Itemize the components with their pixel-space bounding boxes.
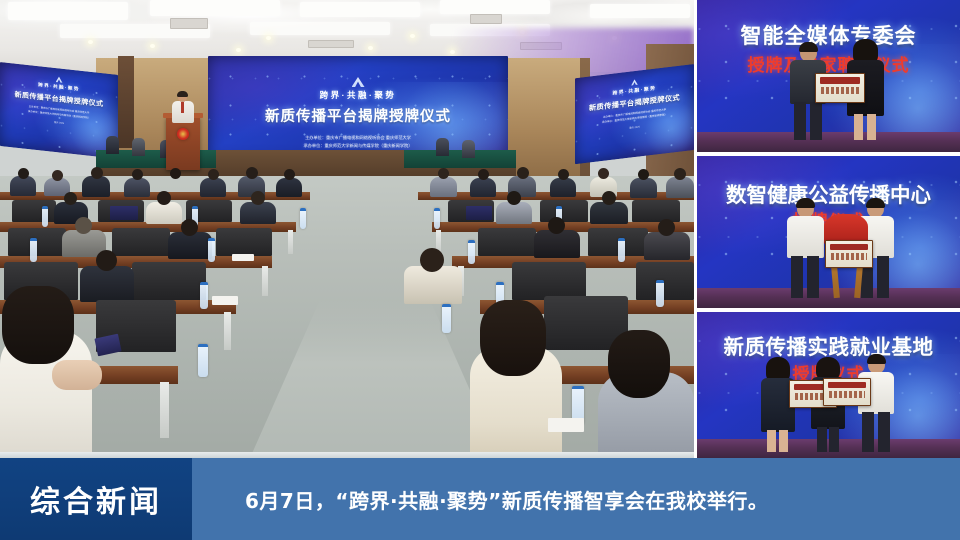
mountain-logo-icon (631, 79, 638, 86)
audience-head (548, 217, 565, 234)
water-bottle (618, 238, 625, 262)
audience-head (91, 167, 103, 179)
chair-back (216, 228, 272, 256)
person-legs (854, 114, 863, 140)
air-vent (470, 14, 502, 24)
audience-head (132, 169, 143, 180)
air-vent (308, 40, 354, 48)
audience-head (170, 168, 181, 179)
panel-title: 新质传播实践就业基地 (697, 330, 960, 360)
speaker-tie (181, 102, 184, 113)
panel-practice-employment-base: 新质传播实践就业基地 授牌仪式 (697, 312, 960, 458)
speaker-hair (177, 91, 188, 97)
right-photo-column: 智能全媒体专委会 授牌及专家聘任仪式 (697, 0, 960, 458)
screen-date: 重庆·2025 (54, 120, 64, 125)
audience-head (251, 191, 265, 205)
chair-back (12, 200, 56, 222)
stage-floor (697, 288, 960, 308)
audience-head (75, 217, 92, 234)
plaque-text (831, 253, 868, 260)
foreground-person-arm (52, 360, 102, 390)
paper-sheet (212, 296, 238, 305)
speaker-at-podium (172, 92, 194, 122)
panel-title: 智能全媒体专委会 (697, 20, 960, 50)
audience-head (96, 250, 117, 271)
stage-seated-person (132, 138, 145, 156)
water-bottle (434, 208, 440, 229)
podium (166, 116, 200, 170)
screen-tagline: 跨界·共融·聚势 (38, 82, 80, 93)
audience-head (517, 167, 529, 179)
stage-seated-person (106, 136, 119, 154)
stage-seated-person (436, 138, 449, 156)
audience-person (80, 266, 134, 302)
audience-person (534, 230, 580, 258)
desk-leg (288, 230, 293, 254)
chair-back (636, 262, 694, 300)
water-bottle (30, 238, 37, 262)
chair-back (478, 228, 536, 256)
audience-person (430, 177, 457, 197)
plaque-red-band (820, 77, 860, 83)
audience-head (284, 169, 295, 180)
audience-head (208, 169, 219, 180)
ceiling-light-panel (150, 0, 280, 16)
panel-title: 数智健康公益传播中心 (697, 178, 960, 208)
water-bottle (198, 344, 208, 377)
mountain-logo-icon (56, 76, 63, 83)
ceiling-light-panel (300, 2, 420, 17)
foreground-person-hair (608, 330, 670, 398)
audience-head (658, 219, 675, 236)
audience-head (246, 167, 258, 179)
news-headline: 6月7日，“跨界·共融·聚势”新质传播智享会在我校举行。 (245, 458, 768, 540)
audience-head (602, 191, 616, 205)
screen-date: 重庆·2025 (629, 124, 639, 129)
person-legs (867, 114, 876, 140)
audience-person (550, 178, 576, 197)
audience-person (168, 232, 212, 259)
audience-head (638, 169, 649, 180)
audience-head (420, 248, 444, 272)
audience-person (496, 202, 532, 224)
audience-head (674, 168, 686, 180)
person-legs (862, 412, 874, 452)
podium-emblem-icon (177, 128, 189, 140)
main-conference-photo: 跨界·共融·聚势 新质传播平台揭牌授牌仪式 主办单位：重庆市广播电视和网络视听协… (0, 0, 694, 458)
screen-title: 新质传播平台揭牌授牌仪式 (589, 93, 680, 114)
person-hair (796, 198, 815, 208)
downlight (266, 36, 271, 40)
ceiling-light-panel (440, 0, 550, 14)
person-shirt (787, 216, 824, 258)
person-hair (866, 198, 885, 208)
downlight (236, 48, 241, 52)
paper-sheet (232, 254, 254, 261)
person-hair (799, 42, 818, 52)
audience-person (644, 232, 690, 260)
audience-head (478, 169, 489, 180)
ceiling-light-panel (250, 22, 390, 35)
audience-person (470, 178, 496, 197)
head-table-right (404, 150, 516, 168)
side-led-screen-left: 跨界·共融·聚势 新质传播平台揭牌授牌仪式 主办单位：重庆市广播电视和网络视听协… (0, 62, 118, 159)
chair-back (540, 200, 588, 222)
audience-person (146, 202, 182, 224)
person-legs (817, 427, 827, 452)
audience-person (200, 178, 226, 197)
plaque-text (829, 391, 866, 398)
ceiling-light-panel (8, 2, 128, 20)
person-hair (867, 354, 886, 364)
audience-person (276, 178, 302, 197)
chair-back (132, 262, 206, 300)
water-bottle (300, 208, 306, 229)
chair-back (512, 262, 586, 300)
person-legs (794, 102, 806, 140)
downlight (88, 40, 93, 44)
desk-leg (224, 312, 231, 350)
water-bottle (468, 240, 475, 264)
person-legs (877, 256, 889, 298)
audience-person (10, 176, 36, 196)
person-legs (810, 102, 822, 140)
ceiling-light-panel (590, 4, 690, 18)
audience-head (181, 219, 198, 236)
audience-head (507, 191, 521, 205)
audience-person (82, 176, 110, 197)
screenshot-root: 跨界·共融·聚势 新质传播平台揭牌授牌仪式 主办单位：重庆市广播电视和网络视听协… (0, 0, 960, 540)
caption-bar: 综合新闻 6月7日，“跨界·共融·聚势”新质传播智享会在我校举行。 (0, 458, 960, 540)
water-bottle (656, 280, 664, 307)
screen-title: 新质传播平台揭牌授牌仪式 (265, 105, 451, 126)
audience-head (18, 168, 29, 179)
person-legs (791, 256, 803, 298)
audience-head (438, 168, 449, 179)
desk-leg (262, 266, 268, 296)
door-frame (118, 56, 134, 148)
open-laptop (110, 206, 138, 220)
audience-head (64, 192, 77, 205)
downlight (368, 46, 373, 50)
audience-person (590, 202, 628, 224)
person-legs (807, 256, 819, 298)
news-category-badge: 综合新闻 (0, 458, 192, 540)
person-legs (767, 430, 776, 452)
side-led-screen-right: 跨界·共融·聚势 新质传播平台揭牌授牌仪式 主办单位：重庆市广播电视和网络视听协… (575, 64, 694, 164)
plaque-text (821, 87, 859, 94)
chair-back (632, 200, 680, 222)
award-plaque (815, 73, 865, 103)
plaque-red-band (828, 382, 867, 388)
stage-floor (697, 132, 960, 152)
audience-person (630, 178, 657, 198)
person-male-left (785, 200, 825, 298)
panel-digital-health-center: 数智健康公益传播中心 揭牌仪式 (697, 156, 960, 308)
water-bottle (200, 282, 208, 309)
desk-leg (160, 382, 169, 438)
plaque-red-band (830, 244, 869, 250)
news-category-label: 综合新闻 (30, 477, 162, 521)
audience-head (157, 191, 171, 205)
foreground-person-hair (2, 286, 74, 364)
screen-subtitle-2: 承办单位：重庆师范大学新闻与传媒学院（重庆新闻学院） (304, 142, 413, 150)
foreground-person-hair (480, 300, 546, 376)
audience-person (666, 177, 694, 198)
screen-subtitle-1: 主办单位：重庆市广播电视和网络视听协会 重庆师范大学 (305, 134, 411, 142)
air-vent (170, 18, 208, 29)
panel-intelligent-media-committee: 智能全媒体专委会 授牌及专家聘任仪式 (697, 0, 960, 152)
screen-tagline: 跨界·共融·聚势 (320, 89, 397, 101)
audience-person (124, 178, 150, 197)
open-laptop (466, 206, 492, 220)
chair-back (8, 228, 66, 256)
stage-seated-person (462, 140, 475, 158)
chair-back (112, 228, 170, 256)
downlight (410, 34, 415, 38)
audience-head (52, 170, 63, 181)
paper-sheet (548, 418, 584, 432)
water-bottle (442, 304, 451, 333)
downlight (150, 44, 155, 48)
person-legs (829, 427, 839, 452)
person-legs (878, 412, 890, 452)
person-legs (779, 430, 788, 452)
water-bottle (42, 206, 48, 227)
unveiling-plaque (825, 240, 873, 268)
audience-head (558, 169, 569, 180)
water-bottle (208, 238, 215, 262)
award-plaque-2 (823, 378, 871, 406)
audience-person (240, 202, 276, 224)
audience-head (598, 168, 609, 179)
mountain-logo-icon (352, 77, 365, 87)
